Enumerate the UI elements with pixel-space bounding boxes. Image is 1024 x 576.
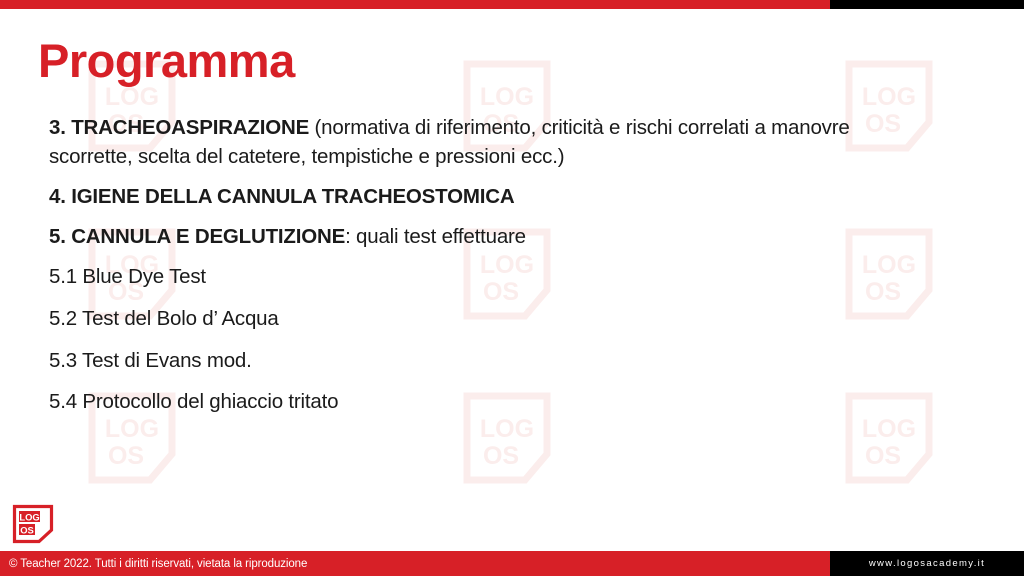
svg-text:OS: OS [865, 442, 901, 470]
agenda-item: 4. IGIENE DELLA CANNULA TRACHEOSTOMICA [49, 182, 929, 211]
logos-logo-icon: LOG OS [12, 504, 54, 544]
svg-text:LOG: LOG [480, 83, 534, 111]
agenda-item: 5. CANNULA E DEGLUTIZIONE: quali test ef… [49, 222, 929, 251]
agenda-item-heading: 4. IGIENE DELLA CANNULA TRACHEOSTOMICA [49, 185, 514, 208]
agenda-subitem: 5.1 Blue Dye Test [49, 262, 929, 291]
svg-text:LOG: LOG [19, 511, 39, 522]
agenda-item-detail: : quali test effettuare [345, 225, 526, 248]
agenda-subitem-label: 5.3 Test di Evans mod. [49, 349, 252, 372]
footer-copyright-text: © Teacher 2022. Tutti i diritti riservat… [9, 558, 307, 570]
svg-text:OS: OS [108, 442, 144, 470]
footer-bar: © Teacher 2022. Tutti i diritti riservat… [0, 551, 1024, 576]
agenda-item-heading: 5. CANNULA E DEGLUTIZIONE [49, 225, 345, 248]
agenda-subitem-label: 5.4 Protocollo del ghiaccio tritato [49, 390, 338, 413]
agenda-subitem: 5.2 Test del Bolo d’ Acqua [49, 304, 929, 333]
top-accent-bar-red-segment [0, 0, 830, 9]
footer-copyright-region: © Teacher 2022. Tutti i diritti riservat… [0, 551, 830, 576]
svg-text:OS: OS [20, 524, 34, 535]
svg-text:LOG: LOG [105, 83, 159, 111]
top-accent-bar [0, 0, 1024, 9]
svg-text:LOG: LOG [862, 83, 916, 111]
svg-text:OS: OS [483, 442, 519, 470]
footer-website-text[interactable]: www.logosacademy.it [869, 558, 985, 569]
agenda-subitem: 5.4 Protocollo del ghiaccio tritato [49, 387, 929, 416]
page-title: Programma [38, 36, 295, 85]
top-accent-bar-black-segment [830, 0, 1024, 9]
footer-website-region[interactable]: www.logosacademy.it [830, 551, 1024, 576]
agenda-subitem: 5.3 Test di Evans mod. [49, 346, 929, 375]
agenda-subitem-label: 5.2 Test del Bolo d’ Acqua [49, 307, 279, 330]
agenda-subitem-label: 5.1 Blue Dye Test [49, 265, 206, 288]
agenda-list: 3. TRACHEOASPIRAZIONE (normativa di rife… [49, 113, 929, 429]
agenda-item: 3. TRACHEOASPIRAZIONE (normativa di rife… [49, 113, 929, 171]
slide: LOG OS LOG OS LOG OS LOG OS [0, 0, 1024, 576]
agenda-item-heading: 3. TRACHEOASPIRAZIONE [49, 116, 309, 139]
